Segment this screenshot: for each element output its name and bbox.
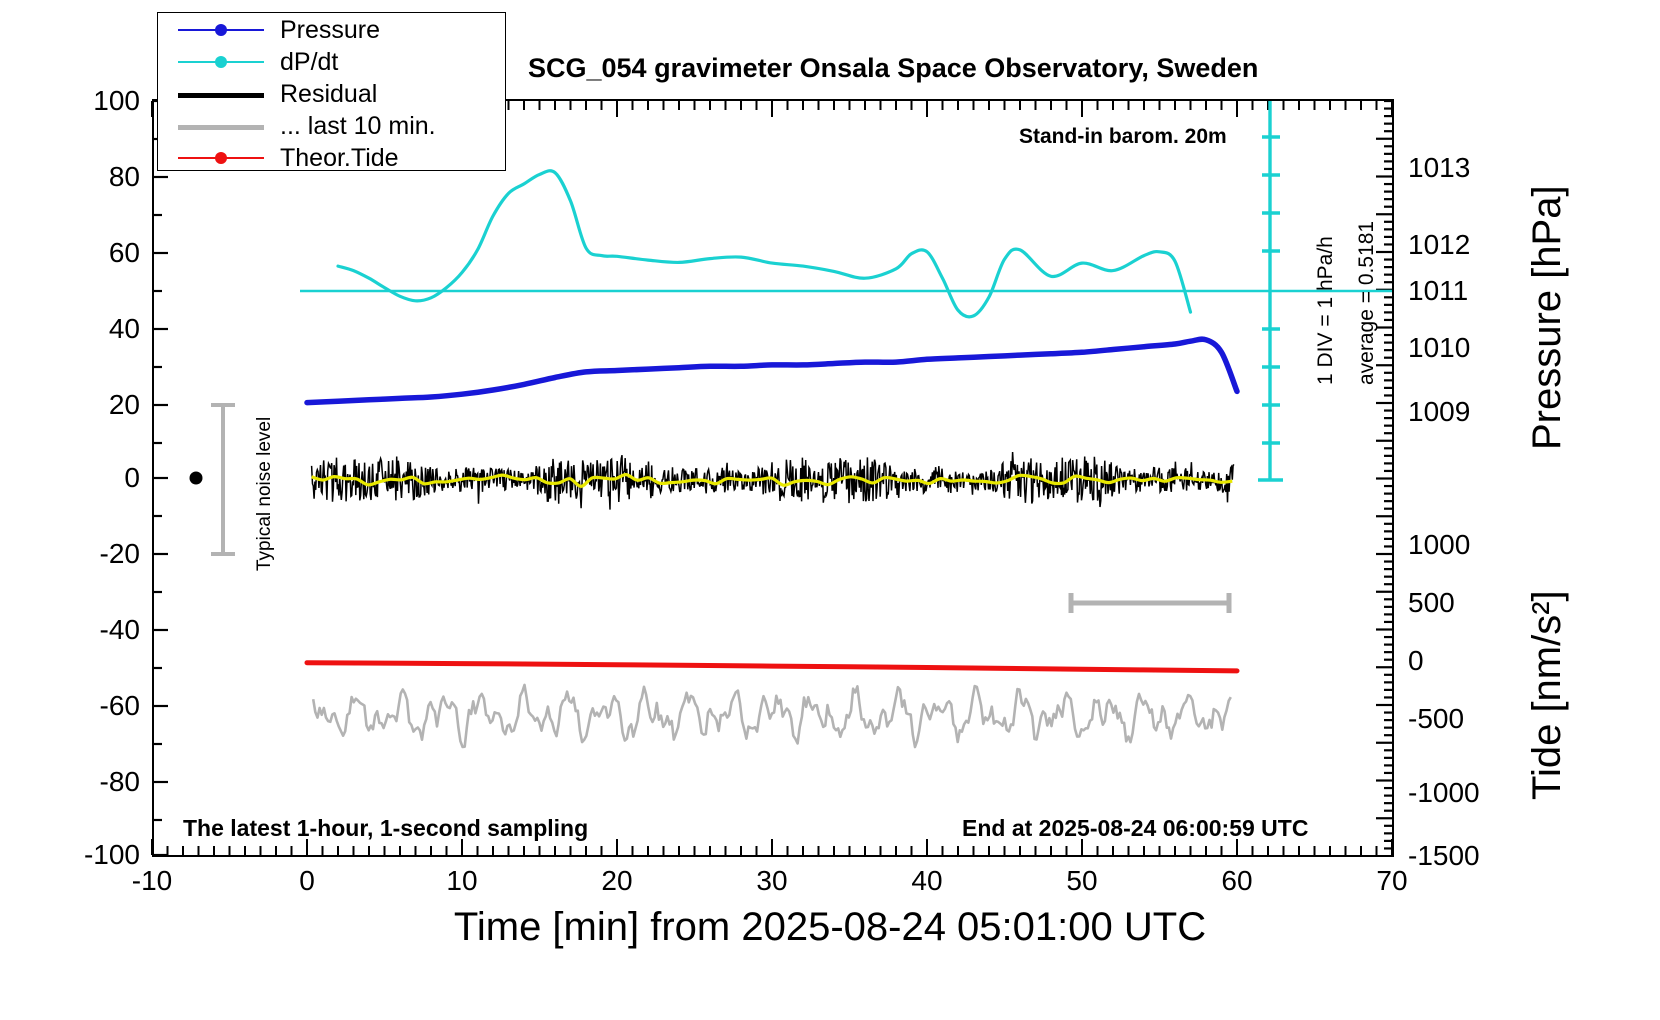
y-axis-right-pressure-tick: 1013 (1408, 152, 1470, 184)
legend-item-0[interactable]: Pressure (158, 15, 505, 45)
legend-label: Residual (280, 80, 377, 109)
y-axis-left-tick: -80 (55, 766, 140, 798)
legend-swatch (178, 47, 264, 77)
legend-swatch (178, 143, 264, 173)
legend-item-1[interactable]: dP/dt (158, 47, 505, 77)
plot-area (152, 99, 1394, 857)
y-axis-right-tide-tick: 0 (1408, 645, 1424, 677)
y-axis-left-tick: 40 (55, 313, 140, 345)
y-axis-left-title: Obs’d Gravity [nm/s²] (0, 0, 39, 255)
x-axis-tick: 30 (727, 865, 817, 897)
legend[interactable]: PressuredP/dtResidual... last 10 min.The… (157, 12, 506, 171)
y-axis-right-pressure-tick: 1012 (1408, 229, 1470, 261)
y-axis-left-tick: 20 (55, 389, 140, 421)
x-axis-tick: 20 (572, 865, 662, 897)
typical-noise-level-label: Typical noise level (254, 417, 276, 571)
y-axis-left-tick: 100 (55, 85, 140, 117)
y-axis-left-tick: -20 (55, 538, 140, 570)
legend-swatch (178, 15, 264, 45)
y-axis-right-tide-tick: 500 (1408, 587, 1455, 619)
x-axis-tick: 10 (417, 865, 507, 897)
dpdt-div-scale-label: 1 DIV = 1 hPa/h (1314, 236, 1338, 385)
x-axis-title: Time [min] from 2025-08-24 05:01:00 UTC (0, 905, 1660, 950)
y-axis-right-pressure-tick: 1010 (1408, 332, 1470, 364)
y-axis-left-tick: -40 (55, 614, 140, 646)
y-axis-right-tide-title: Tide [nm/s²] (1525, 590, 1570, 800)
y-axis-left-tick: -60 (55, 690, 140, 722)
legend-item-2[interactable]: Residual (158, 79, 505, 109)
y-axis-left-tick: 0 (55, 462, 140, 494)
chart-title: SCG_054 gravimeter Onsala Space Observat… (528, 53, 1258, 84)
x-axis-tick: 40 (882, 865, 972, 897)
legend-swatch (178, 79, 264, 109)
x-axis-tick: 0 (262, 865, 352, 897)
x-axis-tick: -10 (107, 865, 197, 897)
y-axis-right-tide-tick: -500 (1408, 703, 1464, 735)
legend-item-4[interactable]: Theor.Tide (158, 143, 505, 173)
legend-label: ... last 10 min. (280, 112, 436, 141)
y-axis-right-pressure-tick: 1011 (1408, 275, 1468, 307)
y-axis-right-tide-tick: -1000 (1408, 777, 1480, 809)
standin-barometer-label: Stand-in barom. 20m (1019, 125, 1227, 149)
x-axis-tick: 60 (1192, 865, 1282, 897)
dpdt-average-label: average = 0.5181 (1355, 221, 1379, 385)
footer-sampling-label: The latest 1-hour, 1-second sampling (183, 815, 588, 842)
legend-item-3[interactable]: ... last 10 min. (158, 111, 505, 141)
x-axis-tick: 50 (1037, 865, 1127, 897)
legend-swatch (178, 111, 264, 141)
y-axis-right-pressure-tick: 1009 (1408, 396, 1470, 428)
legend-label: Pressure (280, 16, 380, 45)
footer-end-time-label: End at 2025-08-24 06:00:59 UTC (962, 815, 1308, 842)
legend-label: dP/dt (280, 48, 338, 77)
y-axis-right-tide-tick: 1000 (1408, 529, 1470, 561)
y-axis-left-tick: 60 (55, 237, 140, 269)
y-axis-left-tick: 80 (55, 161, 140, 193)
y-axis-right-tide-tick: -1500 (1408, 840, 1480, 872)
legend-label: Theor.Tide (280, 144, 399, 173)
y-axis-right-pressure-title: Pressure [hPa] (1525, 185, 1570, 450)
